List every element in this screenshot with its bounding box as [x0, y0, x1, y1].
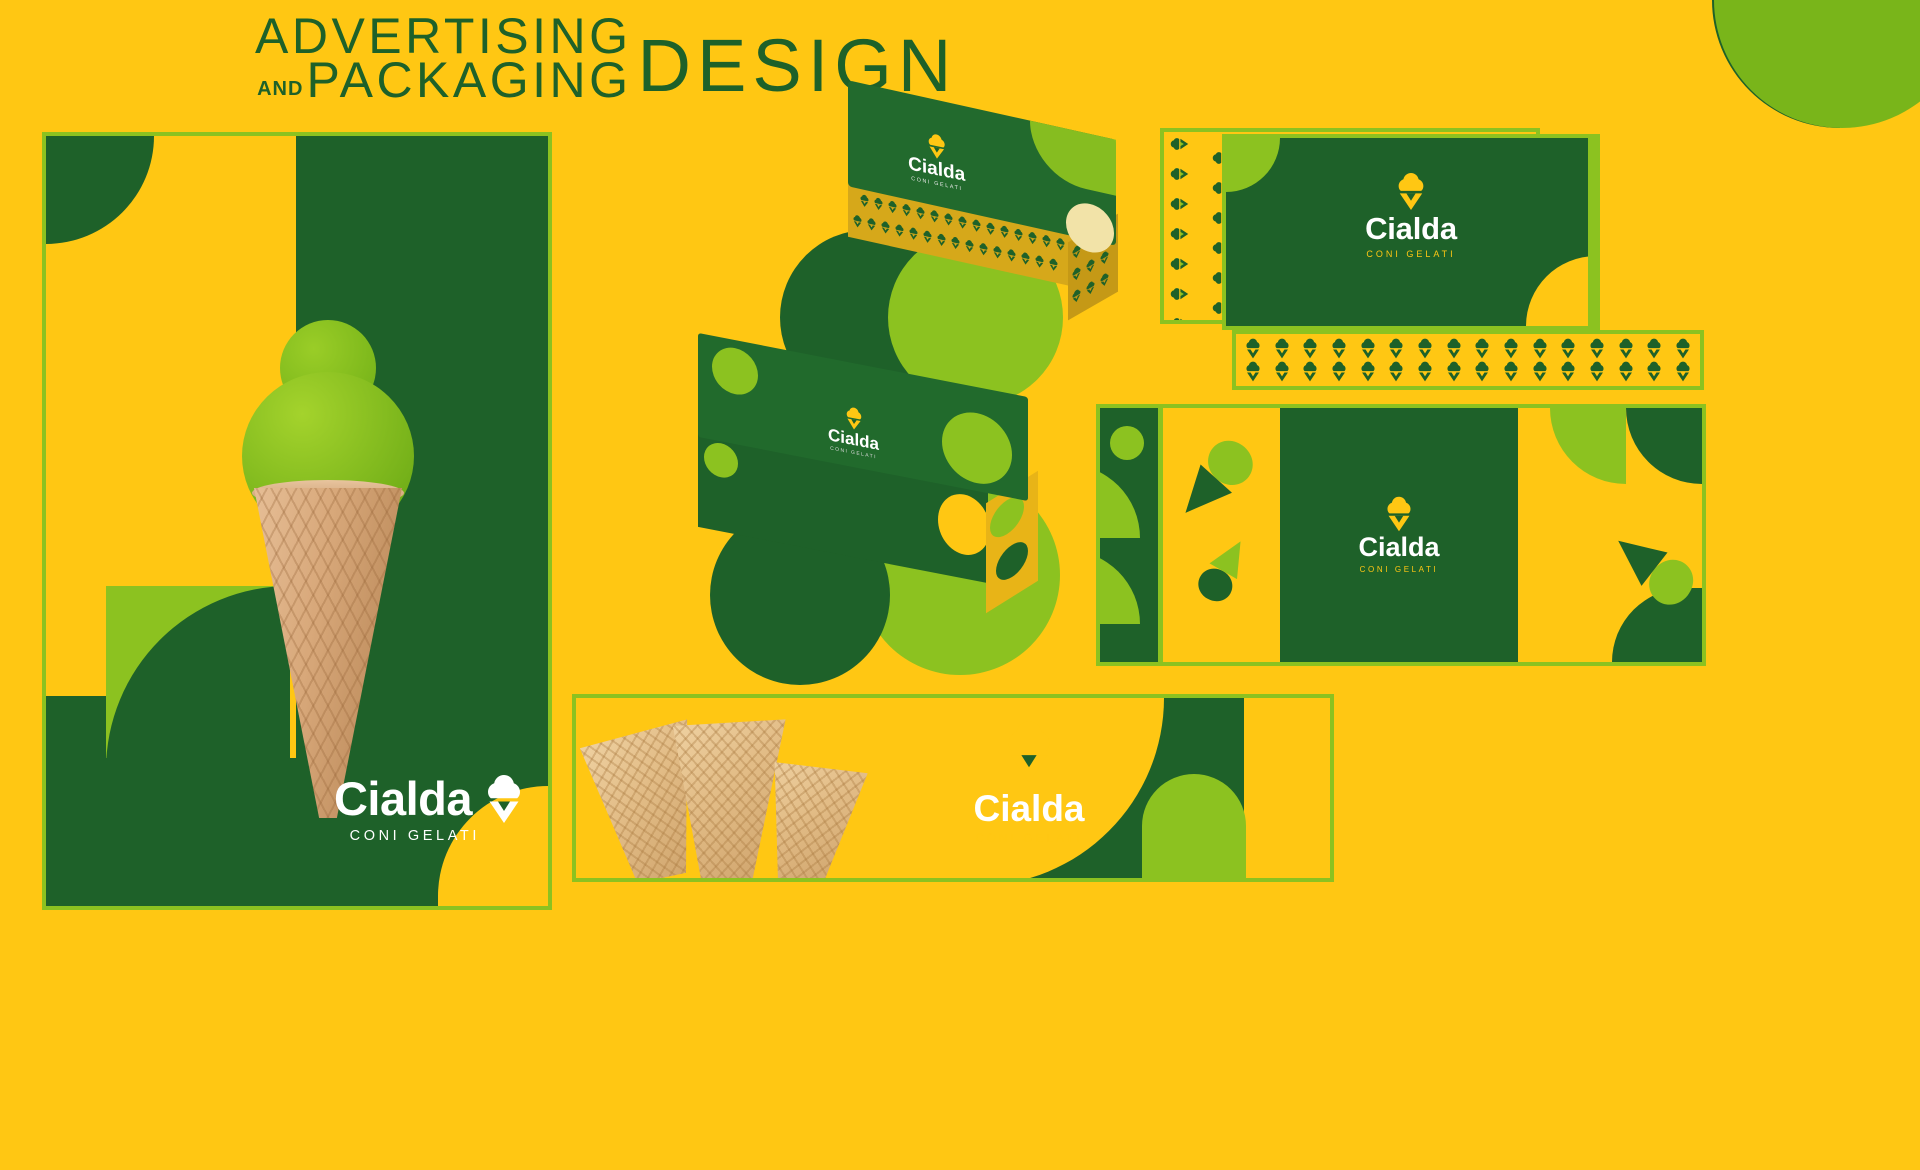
corner-shape-lime-circle: [1714, 0, 1920, 128]
banner-shape-yellow-right: [1244, 698, 1330, 878]
ice-cream-cone-icon: [859, 193, 870, 208]
pattern-strip: [1232, 330, 1704, 390]
ice-cream-cone-icon: [880, 220, 891, 235]
ice-cream-cone-icon: [1170, 136, 1189, 152]
ice-cream-cone-icon: [1170, 316, 1189, 324]
ice-cream-cone-icon: [943, 212, 954, 227]
ice-cream-cone-icon: [1559, 361, 1577, 382]
ice-cream-cone-icon: [1588, 361, 1606, 382]
pattern-cone: [1170, 226, 1194, 242]
poster-mockup: Cialda CONI GELATI: [42, 132, 552, 910]
wrap-logo-name: Cialda: [1358, 532, 1439, 563]
ice-cream-cone-icon: [1531, 338, 1549, 359]
ice-cream-cone-icon: [985, 221, 996, 236]
shipping-logo-lockup: Cialda CONI GELATI: [828, 402, 879, 461]
ice-cream-cone-icon: [1588, 338, 1606, 359]
ice-cream-cone-icon: [1170, 286, 1189, 302]
blob-shape: [712, 344, 758, 399]
pattern-row: [1244, 361, 1692, 382]
ice-cream-cone-icon: [1048, 257, 1059, 272]
ice-cream-cone-icon: [1027, 230, 1038, 245]
ice-cream-cone-icon: [887, 199, 898, 214]
ice-cream-cone-icon: [1416, 361, 1434, 382]
card-logo-name: Cialda: [1365, 211, 1457, 247]
ice-cream-cone-icon: [1006, 248, 1017, 263]
pattern-cone: [1170, 136, 1194, 152]
ice-cream-cone-icon: [1034, 254, 1045, 269]
ice-cream-cone-icon: [1531, 361, 1549, 382]
ice-cream-cone-icon: [1445, 338, 1463, 359]
ice-cream-cone-icon: [866, 217, 877, 232]
ice-cream-cone-icon: [1383, 496, 1415, 532]
poster-logo-name: Cialda: [334, 771, 472, 826]
ice-cream-cone-icon: [915, 206, 926, 221]
ice-cream-cone-icon: [1330, 338, 1348, 359]
ice-cream-cone-icon: [1617, 361, 1635, 382]
design-portfolio-canvas: ADVERTISING AND PACKAGING DESIGN: [0, 0, 1920, 1170]
ice-cream-cone-icon: [1273, 338, 1291, 359]
wrap-shape-lime-quarter-right: [1550, 408, 1626, 484]
ice-cream-cone-illustration: [228, 320, 428, 840]
card-logo-lockup: Cialda CONI GELATI: [1226, 172, 1596, 259]
ice-cream-cone-icon: [901, 202, 912, 217]
ice-cream-cone-icon: [1559, 338, 1577, 359]
ice-cream-cone-icon: [1502, 361, 1520, 382]
ice-cream-cone-icon: [1387, 338, 1405, 359]
wrap-center-dark-panel: Cialda CONI GELATI: [1280, 408, 1518, 662]
wrap-logo-tagline: CONI GELATI: [1360, 565, 1439, 574]
ice-cream-cone-icon: [908, 226, 919, 241]
blob-shape: [942, 406, 1012, 490]
headline-and: AND: [257, 81, 303, 102]
pattern-cone: [1170, 166, 1194, 182]
ice-cream-cone-icon: [1041, 234, 1052, 249]
ice-cream-cone-icon: [1244, 361, 1262, 382]
ice-cream-cone-icon: [1170, 196, 1189, 212]
cone-decor-icon: [1610, 520, 1696, 616]
ice-cream-cone-icon: [978, 242, 989, 257]
mailer-lid-lime-shape: [1030, 121, 1116, 196]
pattern-cone: [1170, 256, 1194, 272]
ice-cream-cone-icon: [1674, 338, 1692, 359]
ice-cream-cone-icon: [950, 235, 961, 250]
ice-cream-cone-icon: [1170, 166, 1189, 182]
pattern-cone: [1170, 286, 1194, 302]
waffle-cones-photo: [586, 706, 876, 882]
ice-cream-cone-icon: [482, 774, 526, 824]
ice-cream-cone-icon: [1085, 278, 1096, 297]
poster-logo-lockup: Cialda CONI GELATI: [334, 771, 526, 844]
ice-cream-cone-icon: [1085, 256, 1096, 275]
ice-cream-cone-icon: [1001, 720, 1057, 784]
banner-logo-name: Cialda: [973, 788, 1084, 830]
shipping-box-mockup: Cialda CONI GELATI: [680, 355, 1070, 645]
headline-design: DESIGN: [638, 33, 958, 98]
ice-cream-cone-icon: [1387, 361, 1405, 382]
ice-cream-cone-icon: [1502, 338, 1520, 359]
banner-logo-tagline: CONI GELATI: [975, 833, 1082, 845]
business-card-front: Cialda CONI GELATI: [1222, 134, 1600, 330]
ice-cream-cone-icon: [1359, 361, 1377, 382]
wrap-logo-lockup: Cialda CONI GELATI: [1280, 496, 1518, 574]
card-logo-tagline: CONI GELATI: [1366, 249, 1455, 259]
ice-cream-cone-icon: [1013, 227, 1024, 242]
ice-cream-cone-icon: [1273, 361, 1291, 382]
poster-logo-tagline: CONI GELATI: [350, 828, 480, 844]
ice-cream-cone-icon: [936, 232, 947, 247]
ice-cream-cone-icon: [964, 238, 975, 253]
blob-shape: [938, 489, 990, 559]
ice-cream-cone-icon: [1071, 264, 1082, 283]
ice-cream-cone-icon: [1170, 226, 1189, 242]
card-shape-yellow-corner: [1526, 256, 1596, 326]
ice-cream-cone-icon: [1071, 286, 1082, 305]
ice-cream-cone-icon: [999, 224, 1010, 239]
pattern-row: [1244, 338, 1692, 359]
ice-cream-cone-icon: [852, 214, 863, 229]
ice-cream-cone-icon: [1674, 361, 1692, 382]
business-card-set: Cialda CONI GELATI: [1160, 128, 1705, 328]
ice-cream-cone-icon: [1394, 172, 1428, 211]
ice-cream-cone-icon: [1445, 361, 1463, 382]
cone-decor-icon: [1172, 432, 1258, 528]
wrap-shape-lime-dot: [1110, 426, 1144, 460]
ice-cream-cone-icon: [1645, 338, 1663, 359]
pattern-column: [1174, 132, 1190, 324]
ice-cream-cone-icon: [1099, 270, 1110, 289]
ice-cream-cone-icon: [971, 218, 982, 233]
ice-cream-cone-icon: [1301, 338, 1319, 359]
ice-cream-cone-icon: [929, 209, 940, 224]
ice-cream-cone-icon: [1020, 251, 1031, 266]
wrap-shape-dark-quarter-right: [1626, 408, 1702, 484]
banner-logo-lockup: Cialda CONI GELATI: [954, 720, 1104, 845]
ice-cream-cone-icon: [1473, 338, 1491, 359]
waffle-cone-icon: [254, 488, 402, 818]
cone-decor-icon: [1192, 534, 1256, 606]
ice-cream-cone-icon: [1617, 338, 1635, 359]
ice-cream-cone-icon: [1244, 338, 1262, 359]
wrapping-paper-mockup: Cialda CONI GELATI: [1096, 404, 1706, 666]
ice-cream-cone-icon: [1359, 338, 1377, 359]
ice-cream-cone-icon: [1645, 361, 1663, 382]
ice-cream-cone-icon: [957, 215, 968, 230]
ice-cream-cone-icon: [922, 229, 933, 244]
ice-cream-cone-icon: [1055, 237, 1066, 252]
blob-shape: [996, 535, 1028, 587]
headline-line-packaging: PACKAGING: [306, 58, 631, 102]
ice-cream-cone-icon: [1473, 361, 1491, 382]
blob-shape: [704, 440, 738, 481]
ice-cream-cone-icon: [1170, 256, 1189, 272]
ice-cream-cone-icon: [1301, 361, 1319, 382]
wrap-divider: [1158, 408, 1163, 662]
pattern-cone: [1170, 316, 1194, 324]
pattern-cone: [1170, 196, 1194, 212]
banner-shape-lime-arc: [1142, 774, 1246, 878]
ice-cream-cone-icon: [873, 196, 884, 211]
web-banner-mockup: Cialda CONI GELATI: [572, 694, 1334, 882]
mailer-box-mockup: Cialda CONI GELATI: [800, 110, 1130, 340]
ice-cream-cone-icon: [894, 223, 905, 238]
ice-cream-cone-icon: [992, 245, 1003, 260]
ice-cream-cone-icon: [1330, 361, 1348, 382]
ice-cream-cone-icon: [1416, 338, 1434, 359]
